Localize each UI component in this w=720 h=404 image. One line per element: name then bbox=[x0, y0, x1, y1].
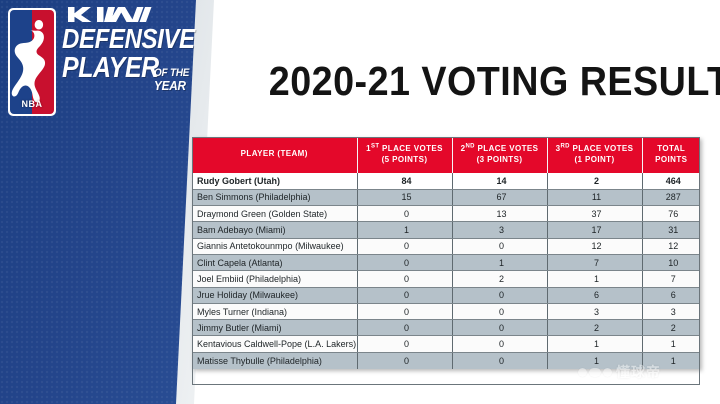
cell-third-place-votes: 11 bbox=[547, 189, 642, 205]
cell-second-place-votes: 0 bbox=[452, 336, 547, 352]
cell-total-points: 76 bbox=[642, 206, 700, 222]
cell-player: Jimmy Butler (Miami) bbox=[192, 320, 357, 336]
cell-first-place-votes: 0 bbox=[357, 287, 452, 303]
cell-first-place-votes: 0 bbox=[357, 352, 452, 368]
cell-total-points: 1 bbox=[642, 336, 700, 352]
col-header-third-sup: RD bbox=[560, 144, 569, 150]
table-row: Clint Capela (Atlanta)01710 bbox=[192, 254, 700, 270]
cell-player: Jrue Holiday (Milwaukee) bbox=[192, 287, 357, 303]
cell-second-place-votes: 3 bbox=[452, 222, 547, 238]
award-of-the-year: OF THE YEAR bbox=[154, 68, 189, 92]
cell-total-points: 1 bbox=[642, 352, 700, 368]
col-header-third-rest: PLACE VOTES bbox=[570, 144, 633, 153]
cell-second-place-votes: 2 bbox=[452, 271, 547, 287]
award-year: YEAR bbox=[154, 79, 189, 92]
cell-player: Giannis Antetokounmpo (Milwaukee) bbox=[192, 238, 357, 254]
cell-total-points: 2 bbox=[642, 320, 700, 336]
cell-first-place-votes: 0 bbox=[357, 336, 452, 352]
cell-total-points: 12 bbox=[642, 238, 700, 254]
table-row: Rudy Gobert (Utah)84142464 bbox=[192, 173, 700, 189]
cell-total-points: 10 bbox=[642, 254, 700, 270]
col-header-second-place: 2ND PLACE VOTES (3 POINTS) bbox=[452, 137, 547, 173]
nba-logo: NBA bbox=[8, 8, 56, 116]
cell-third-place-votes: 2 bbox=[547, 320, 642, 336]
cell-player: Rudy Gobert (Utah) bbox=[192, 173, 357, 189]
cell-total-points: 287 bbox=[642, 189, 700, 205]
cell-third-place-votes: 1 bbox=[547, 336, 642, 352]
cell-first-place-votes: 0 bbox=[357, 254, 452, 270]
table-body: Rudy Gobert (Utah)84142464Ben Simmons (P… bbox=[192, 173, 700, 369]
cell-third-place-votes: 3 bbox=[547, 303, 642, 319]
col-header-first-sub: (5 POINTS) bbox=[382, 155, 428, 164]
cell-second-place-votes: 0 bbox=[452, 287, 547, 303]
cell-third-place-votes: 7 bbox=[547, 254, 642, 270]
screenshot-root: NBA DEFENSIVE PLAYER OF THE YEAR bbox=[0, 0, 720, 404]
cell-total-points: 6 bbox=[642, 287, 700, 303]
cell-third-place-votes: 1 bbox=[547, 352, 642, 368]
col-header-total-sub: POINTS bbox=[655, 155, 687, 164]
col-header-player: PLAYER (TEAM) bbox=[192, 137, 357, 173]
cell-player: Ben Simmons (Philadelphia) bbox=[192, 189, 357, 205]
cell-first-place-votes: 0 bbox=[357, 206, 452, 222]
cell-player: Clint Capela (Atlanta) bbox=[192, 254, 357, 270]
col-header-player-label: PLAYER (TEAM) bbox=[241, 149, 308, 158]
cell-first-place-votes: 0 bbox=[357, 320, 452, 336]
cell-third-place-votes: 37 bbox=[547, 206, 642, 222]
cell-player: Draymond Green (Golden State) bbox=[192, 206, 357, 222]
cell-second-place-votes: 0 bbox=[452, 320, 547, 336]
cell-player: Matisse Thybulle (Philadelphia) bbox=[192, 352, 357, 368]
cell-second-place-votes: 0 bbox=[452, 303, 547, 319]
table-header: PLAYER (TEAM) 1ST PLACE VOTES (5 POINTS)… bbox=[192, 137, 700, 173]
cell-second-place-votes: 14 bbox=[452, 173, 547, 189]
cell-third-place-votes: 17 bbox=[547, 222, 642, 238]
table-row: Jrue Holiday (Milwaukee)0066 bbox=[192, 287, 700, 303]
col-header-second-sup: ND bbox=[465, 144, 474, 150]
col-header-total-points: TOTAL POINTS bbox=[642, 137, 700, 173]
cell-second-place-votes: 67 bbox=[452, 189, 547, 205]
cell-second-place-votes: 1 bbox=[452, 254, 547, 270]
col-header-second-rest: PLACE VOTES bbox=[475, 144, 538, 153]
table-row: Kentavious Caldwell-Pope (L.A. Lakers)00… bbox=[192, 336, 700, 352]
cell-third-place-votes: 2 bbox=[547, 173, 642, 189]
table-row: Matisse Thybulle (Philadelphia)0011 bbox=[192, 352, 700, 368]
cell-second-place-votes: 13 bbox=[452, 206, 547, 222]
cell-first-place-votes: 0 bbox=[357, 271, 452, 287]
col-header-first-rest: PLACE VOTES bbox=[379, 144, 442, 153]
table-row: Myles Turner (Indiana)0033 bbox=[192, 303, 700, 319]
cell-first-place-votes: 0 bbox=[357, 303, 452, 319]
cell-first-place-votes: 15 bbox=[357, 189, 452, 205]
cell-player: Bam Adebayo (Miami) bbox=[192, 222, 357, 238]
cell-total-points: 7 bbox=[642, 271, 700, 287]
col-header-second-sub: (3 POINTS) bbox=[477, 155, 523, 164]
award-line-defensive: DEFENSIVE bbox=[62, 26, 182, 52]
award-name-lockup: DEFENSIVE PLAYER OF THE YEAR bbox=[62, 26, 202, 81]
cell-first-place-votes: 0 bbox=[357, 238, 452, 254]
cell-second-place-votes: 0 bbox=[452, 238, 547, 254]
cell-first-place-votes: 1 bbox=[357, 222, 452, 238]
nba-logo-label: NBA bbox=[10, 99, 54, 109]
col-header-total-label: TOTAL bbox=[657, 144, 685, 153]
col-header-third-sub: (1 POINT) bbox=[574, 155, 614, 164]
col-header-third-place: 3RD PLACE VOTES (1 POINT) bbox=[547, 137, 642, 173]
cell-total-points: 3 bbox=[642, 303, 700, 319]
table-row: Jimmy Butler (Miami)0022 bbox=[192, 320, 700, 336]
table-row: Joel Embiid (Philadelphia)0217 bbox=[192, 271, 700, 287]
voting-results-table: PLAYER (TEAM) 1ST PLACE VOTES (5 POINTS)… bbox=[192, 137, 700, 369]
table-row: Bam Adebayo (Miami)131731 bbox=[192, 222, 700, 238]
cell-player: Myles Turner (Indiana) bbox=[192, 303, 357, 319]
table-row: Ben Simmons (Philadelphia)156711287 bbox=[192, 189, 700, 205]
table-row: Giannis Antetokounmpo (Milwaukee)001212 bbox=[192, 238, 700, 254]
cell-total-points: 464 bbox=[642, 173, 700, 189]
voting-results-table-wrap: PLAYER (TEAM) 1ST PLACE VOTES (5 POINTS)… bbox=[192, 137, 700, 369]
cell-first-place-votes: 84 bbox=[357, 173, 452, 189]
cell-third-place-votes: 1 bbox=[547, 271, 642, 287]
cell-third-place-votes: 6 bbox=[547, 287, 642, 303]
watermark-dots-icon bbox=[578, 368, 612, 377]
cell-total-points: 31 bbox=[642, 222, 700, 238]
table-header-row: PLAYER (TEAM) 1ST PLACE VOTES (5 POINTS)… bbox=[192, 137, 700, 173]
nba-logo-inner: NBA bbox=[10, 10, 54, 114]
cell-player: Kentavious Caldwell-Pope (L.A. Lakers) bbox=[192, 336, 357, 352]
cell-second-place-votes: 0 bbox=[452, 352, 547, 368]
cell-player: Joel Embiid (Philadelphia) bbox=[192, 271, 357, 287]
table-row: Draymond Green (Golden State)0133776 bbox=[192, 206, 700, 222]
cell-third-place-votes: 12 bbox=[547, 238, 642, 254]
col-header-first-place: 1ST PLACE VOTES (5 POINTS) bbox=[357, 137, 452, 173]
page-title: 2020-21 VOTING RESULTS bbox=[269, 58, 655, 105]
